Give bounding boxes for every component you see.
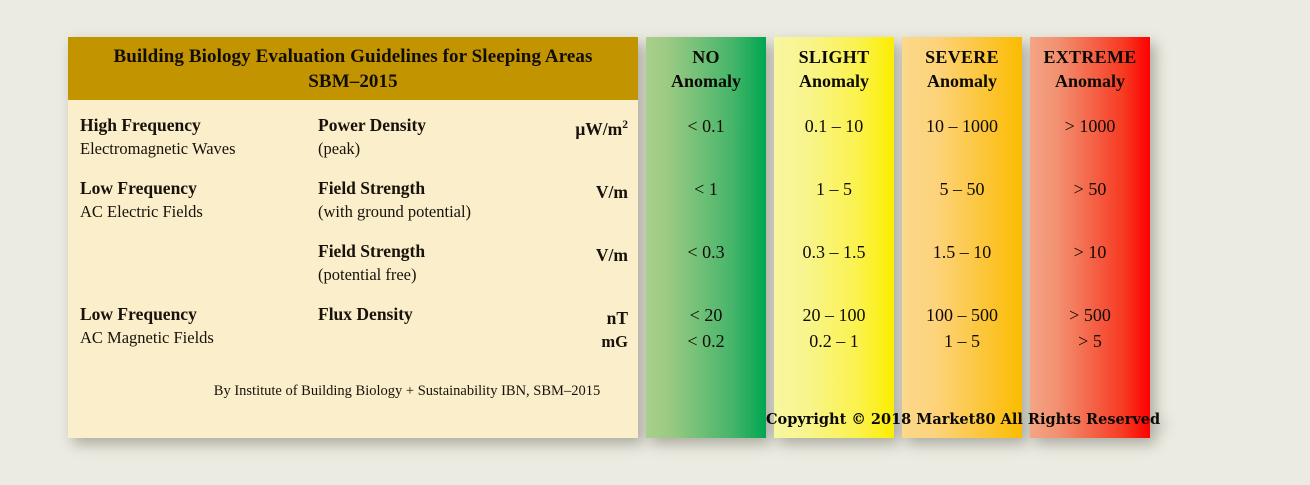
row-category-title: High Frequency xyxy=(80,113,236,137)
row-parameter-subtitle: (potential free) xyxy=(318,263,425,287)
value-cell: 1 – 5 xyxy=(774,176,894,236)
value-primary: > 1000 xyxy=(1030,113,1150,139)
row-parameter-subtitle: (with ground potential) xyxy=(318,200,471,224)
value-cell: > 500 > 5 xyxy=(1030,302,1150,362)
value-secondary: 0.2 – 1 xyxy=(774,328,894,354)
value-cell: < 20 < 0.2 xyxy=(646,302,766,362)
value-secondary: < 0.2 xyxy=(646,328,766,354)
row-category-title: Low Frequency xyxy=(80,302,214,326)
value-primary: < 1 xyxy=(646,176,766,202)
value-primary: < 0.1 xyxy=(646,113,766,139)
copyright-notice: Copyright © 2018 Market80 All Rights Res… xyxy=(646,411,1158,428)
row-unit-primary: V/m xyxy=(498,176,628,204)
row-parameter: Flux Density xyxy=(318,302,413,326)
column-header: EXTREME Anomaly xyxy=(1030,37,1150,100)
anomaly-column-no: NO Anomaly < 0.1 < 1 < 0.3 < 20 xyxy=(646,37,766,438)
row-parameter-title: Flux Density xyxy=(318,302,413,326)
value-secondary: 1 – 5 xyxy=(902,328,1022,354)
table-row: High Frequency Electromagnetic Waves Pow… xyxy=(68,113,638,173)
poster-title-bar: Building Biology Evaluation Guidelines f… xyxy=(68,37,638,100)
value-cell: 0.3 – 1.5 xyxy=(774,239,894,299)
value-cell: 0.1 – 10 xyxy=(774,113,894,173)
row-category: High Frequency Electromagnetic Waves xyxy=(80,113,236,161)
value-primary: 5 – 50 xyxy=(902,176,1022,202)
value-cell: < 0.1 xyxy=(646,113,766,173)
column-header-level: SEVERE xyxy=(925,45,999,69)
table-panel: Building Biology Evaluation Guidelines f… xyxy=(68,37,638,438)
column-header-level: EXTREME xyxy=(1043,45,1136,69)
row-category: Low Frequency AC Electric Fields xyxy=(80,176,203,224)
row-unit-primary: μW/m2 xyxy=(498,113,628,141)
column-header-word: Anomaly xyxy=(1055,69,1125,93)
value-cell: 100 – 500 1 – 5 xyxy=(902,302,1022,362)
value-primary: > 50 xyxy=(1030,176,1150,202)
table-row: Low Frequency AC Electric Fields Field S… xyxy=(68,176,638,236)
column-header-word: Anomaly xyxy=(671,69,741,93)
value-primary: < 0.3 xyxy=(646,239,766,265)
row-category: Low Frequency AC Magnetic Fields xyxy=(80,302,214,350)
table-row: Low Frequency AC Magnetic Fields Flux De… xyxy=(68,302,638,362)
table-row: Field Strength (potential free) V/m xyxy=(68,239,638,299)
value-primary: > 10 xyxy=(1030,239,1150,265)
value-cell: 10 – 1000 xyxy=(902,113,1022,173)
value-primary: 10 – 1000 xyxy=(902,113,1022,139)
value-primary: 0.3 – 1.5 xyxy=(774,239,894,265)
row-unit: nT mG xyxy=(498,302,628,354)
anomaly-column-slight: SLIGHT Anomaly 0.1 – 10 1 – 5 0.3 – 1.5 … xyxy=(774,37,894,438)
poster-title-line1: Building Biology Evaluation Guidelines f… xyxy=(113,44,592,69)
row-parameter-title: Power Density xyxy=(318,113,426,137)
value-cell: 1.5 – 10 xyxy=(902,239,1022,299)
column-header-word: Anomaly xyxy=(927,69,997,93)
value-primary: > 500 xyxy=(1030,302,1150,328)
value-primary: 0.1 – 10 xyxy=(774,113,894,139)
value-cell: 5 – 50 xyxy=(902,176,1022,236)
anomaly-column-extreme: EXTREME Anomaly > 1000 > 50 > 10 > 500 xyxy=(1030,37,1150,438)
row-parameter: Field Strength (potential free) xyxy=(318,239,425,287)
row-unit-primary: nT xyxy=(498,302,628,330)
row-parameter-title: Field Strength xyxy=(318,176,471,200)
table-body: High Frequency Electromagnetic Waves Pow… xyxy=(68,100,638,438)
source-note: By Institute of Building Biology + Susta… xyxy=(68,383,626,400)
row-parameter-subtitle: (peak) xyxy=(318,137,426,161)
poster-title-line2: SBM–2015 xyxy=(308,69,397,94)
value-cell: > 1000 xyxy=(1030,113,1150,173)
row-category-subtitle: AC Magnetic Fields xyxy=(80,326,214,350)
row-unit: V/m xyxy=(498,239,628,267)
row-unit: V/m xyxy=(498,176,628,204)
value-cell: < 0.3 xyxy=(646,239,766,299)
value-primary: 1 – 5 xyxy=(774,176,894,202)
row-parameter-title: Field Strength xyxy=(318,239,425,263)
row-unit-secondary: mG xyxy=(498,330,628,354)
row-category-title: Low Frequency xyxy=(80,176,203,200)
column-header: SEVERE Anomaly xyxy=(902,37,1022,100)
row-parameter: Power Density (peak) xyxy=(318,113,426,161)
anomaly-columns: NO Anomaly < 0.1 < 1 < 0.3 < 20 xyxy=(646,37,1158,438)
row-parameter: Field Strength (with ground potential) xyxy=(318,176,471,224)
value-cell: > 50 xyxy=(1030,176,1150,236)
column-header: SLIGHT Anomaly xyxy=(774,37,894,100)
value-primary: 100 – 500 xyxy=(902,302,1022,328)
row-unit-exponent: 2 xyxy=(622,119,628,131)
row-unit: μW/m2 xyxy=(498,113,628,141)
row-category-subtitle: Electromagnetic Waves xyxy=(80,137,236,161)
value-cell: > 10 xyxy=(1030,239,1150,299)
row-category-subtitle: AC Electric Fields xyxy=(80,200,203,224)
column-header-level: SLIGHT xyxy=(799,45,870,69)
value-primary: 1.5 – 10 xyxy=(902,239,1022,265)
column-header-word: Anomaly xyxy=(799,69,869,93)
value-secondary: > 5 xyxy=(1030,328,1150,354)
guidelines-poster: Building Biology Evaluation Guidelines f… xyxy=(68,37,1158,438)
anomaly-column-severe: SEVERE Anomaly 10 – 1000 5 – 50 1.5 – 10… xyxy=(902,37,1022,438)
column-header: NO Anomaly xyxy=(646,37,766,100)
value-primary: < 20 xyxy=(646,302,766,328)
column-header-level: NO xyxy=(692,45,720,69)
value-cell: < 1 xyxy=(646,176,766,236)
value-cell: 20 – 100 0.2 – 1 xyxy=(774,302,894,362)
row-unit-primary: V/m xyxy=(498,239,628,267)
value-primary: 20 – 100 xyxy=(774,302,894,328)
